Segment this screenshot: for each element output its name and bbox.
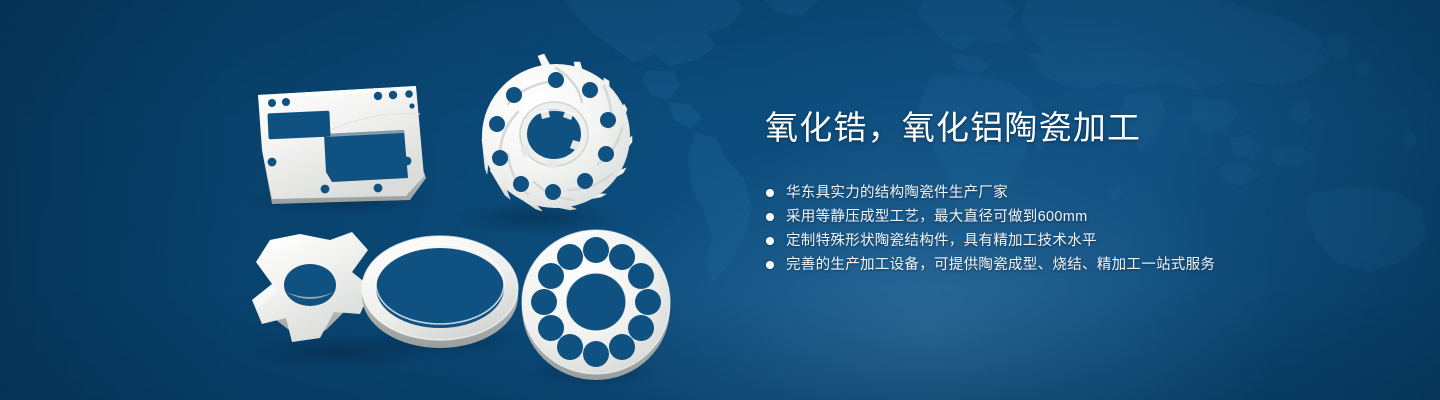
ceramic-thin-ring [362, 236, 518, 348]
bullet-dot-icon [766, 213, 774, 221]
list-item-label: 采用等静压成型工艺，最大直径可做到600mm [786, 205, 1087, 229]
list-item: 完善的生产加工设备，可提供陶瓷成型、烧结、精加工一站式服务 [766, 253, 1385, 277]
list-item-label: 华东具实力的结构陶瓷件生产厂家 [786, 181, 1008, 205]
bullet-dot-icon [766, 261, 774, 269]
list-item-label: 完善的生产加工设备，可提供陶瓷成型、烧结、精加工一站式服务 [786, 253, 1215, 277]
product-showcase [0, 0, 740, 400]
hero-banner: 氧化锆，氧化铝陶瓷加工 华东具实力的结构陶瓷件生产厂家 采用等静压成型工艺，最大… [0, 0, 1440, 400]
ceramic-hole-disc [522, 230, 670, 380]
list-item: 采用等静压成型工艺，最大直径可做到600mm [766, 205, 1385, 229]
page-title: 氧化锆，氧化铝陶瓷加工 [765, 106, 1385, 150]
feature-list: 华东具实力的结构陶瓷件生产厂家 采用等静压成型工艺，最大直径可做到600mm 定… [765, 181, 1385, 277]
list-item: 华东具实力的结构陶瓷件生产厂家 [766, 181, 1385, 205]
list-item: 定制特殊形状陶瓷结构件，具有精加工技术水平 [766, 229, 1385, 253]
ceramic-impeller [482, 54, 632, 211]
bullet-dot-icon [766, 237, 774, 245]
ceramic-cross-plate [252, 232, 372, 342]
banner-copy: 氧化锆，氧化铝陶瓷加工 华东具实力的结构陶瓷件生产厂家 采用等静压成型工艺，最大… [765, 106, 1385, 277]
ceramic-mounting-plate [258, 86, 426, 204]
bullet-dot-icon [766, 189, 774, 197]
list-item-label: 定制特殊形状陶瓷结构件，具有精加工技术水平 [786, 229, 1097, 253]
